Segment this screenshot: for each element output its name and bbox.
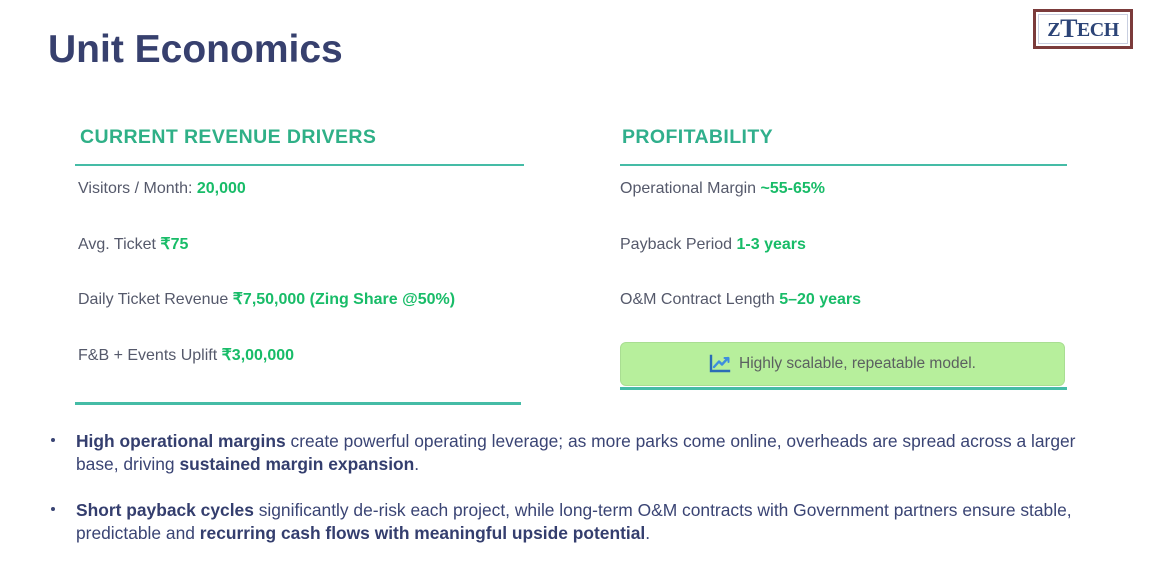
bullet-dot-icon [51,438,55,442]
metric-value-payback-period: 1-3 years [737,236,806,253]
logo-text: ZTECH [1047,16,1119,42]
line-chart-icon [709,354,731,374]
metric-value-daily-ticket-revenue: ₹7,50,000 (Zing Share @50%) [233,291,455,308]
metric-label-operational-margin: Operational Margin [620,180,761,197]
column-profitability: PROFITABILITY Operational Margin ~55-65%… [620,125,1067,390]
metric-row-om-contract-length: O&M Contract Length 5–20 years [620,290,1067,346]
column-divider-bottom-left [75,402,521,405]
bullet-emph-payback: recurring cash flows with meaningful ups… [200,523,645,543]
revenue-rows: Visitors / Month: 20,000 Avg. Ticket ₹75… [78,179,528,401]
metric-label-visitors: Visitors / Month: [78,180,197,197]
bullet-emph-margins: sustained margin expansion [179,454,414,474]
bullet-tail-margins: . [414,454,419,474]
bullet-lead-margins: High operational margins [76,431,286,451]
bullet-tail-payback: . [645,523,650,543]
metric-label-payback-period: Payback Period [620,236,737,253]
metric-value-fnb-events-uplift: ₹3,00,000 [222,347,294,364]
logo-letters-ech: ECH [1077,19,1119,41]
metric-row-visitors: Visitors / Month: 20,000 [78,179,528,235]
metric-value-om-contract-length: 5–20 years [779,291,861,308]
metric-label-fnb-events-uplift: F&B + Events Uplift [78,347,222,364]
column-divider-top-right [620,164,1067,166]
key-points-list: High operational margins create powerful… [48,430,1118,569]
bullet-item-payback: Short payback cycles significantly de-ri… [48,499,1118,545]
metric-value-avg-ticket: ₹75 [160,236,188,253]
bullet-lead-payback: Short payback cycles [76,500,254,520]
logo-letter-z: Z [1047,19,1060,41]
metric-row-payback-period: Payback Period 1-3 years [620,235,1067,291]
logo-inner-frame: ZTECH [1038,14,1128,44]
column-divider-bottom-right [620,387,1067,390]
column-current-revenue-drivers: CURRENT REVENUE DRIVERS Visitors / Month… [78,125,528,405]
page-title: Unit Economics [48,29,343,72]
metric-label-om-contract-length: O&M Contract Length [620,291,779,308]
profitability-rows: Operational Margin ~55-65% Payback Perio… [620,179,1067,346]
ztech-logo: ZTECH [1033,9,1133,49]
metric-label-avg-ticket: Avg. Ticket [78,236,160,253]
metric-value-visitors: 20,000 [197,180,246,197]
scalability-callout: Highly scalable, repeatable model. [620,342,1065,386]
metric-row-daily-ticket-revenue: Daily Ticket Revenue ₹7,50,000 (Zing Sha… [78,290,528,346]
metric-label-daily-ticket-revenue: Daily Ticket Revenue [78,291,233,308]
metric-row-avg-ticket: Avg. Ticket ₹75 [78,235,528,291]
column-header-profitability: PROFITABILITY [622,125,1067,149]
bullet-item-margins: High operational margins create powerful… [48,430,1118,476]
logo-letter-t: T [1060,14,1077,43]
column-header-revenue: CURRENT REVENUE DRIVERS [80,125,528,149]
metric-row-operational-margin: Operational Margin ~55-65% [620,179,1067,235]
column-divider-top-left [75,164,524,166]
bullet-dot-icon [51,507,55,511]
scalability-callout-text: Highly scalable, repeatable model. [739,356,976,372]
metric-row-fnb-events-uplift: F&B + Events Uplift ₹3,00,000 [78,346,528,402]
metric-value-operational-margin: ~55-65% [761,180,826,197]
